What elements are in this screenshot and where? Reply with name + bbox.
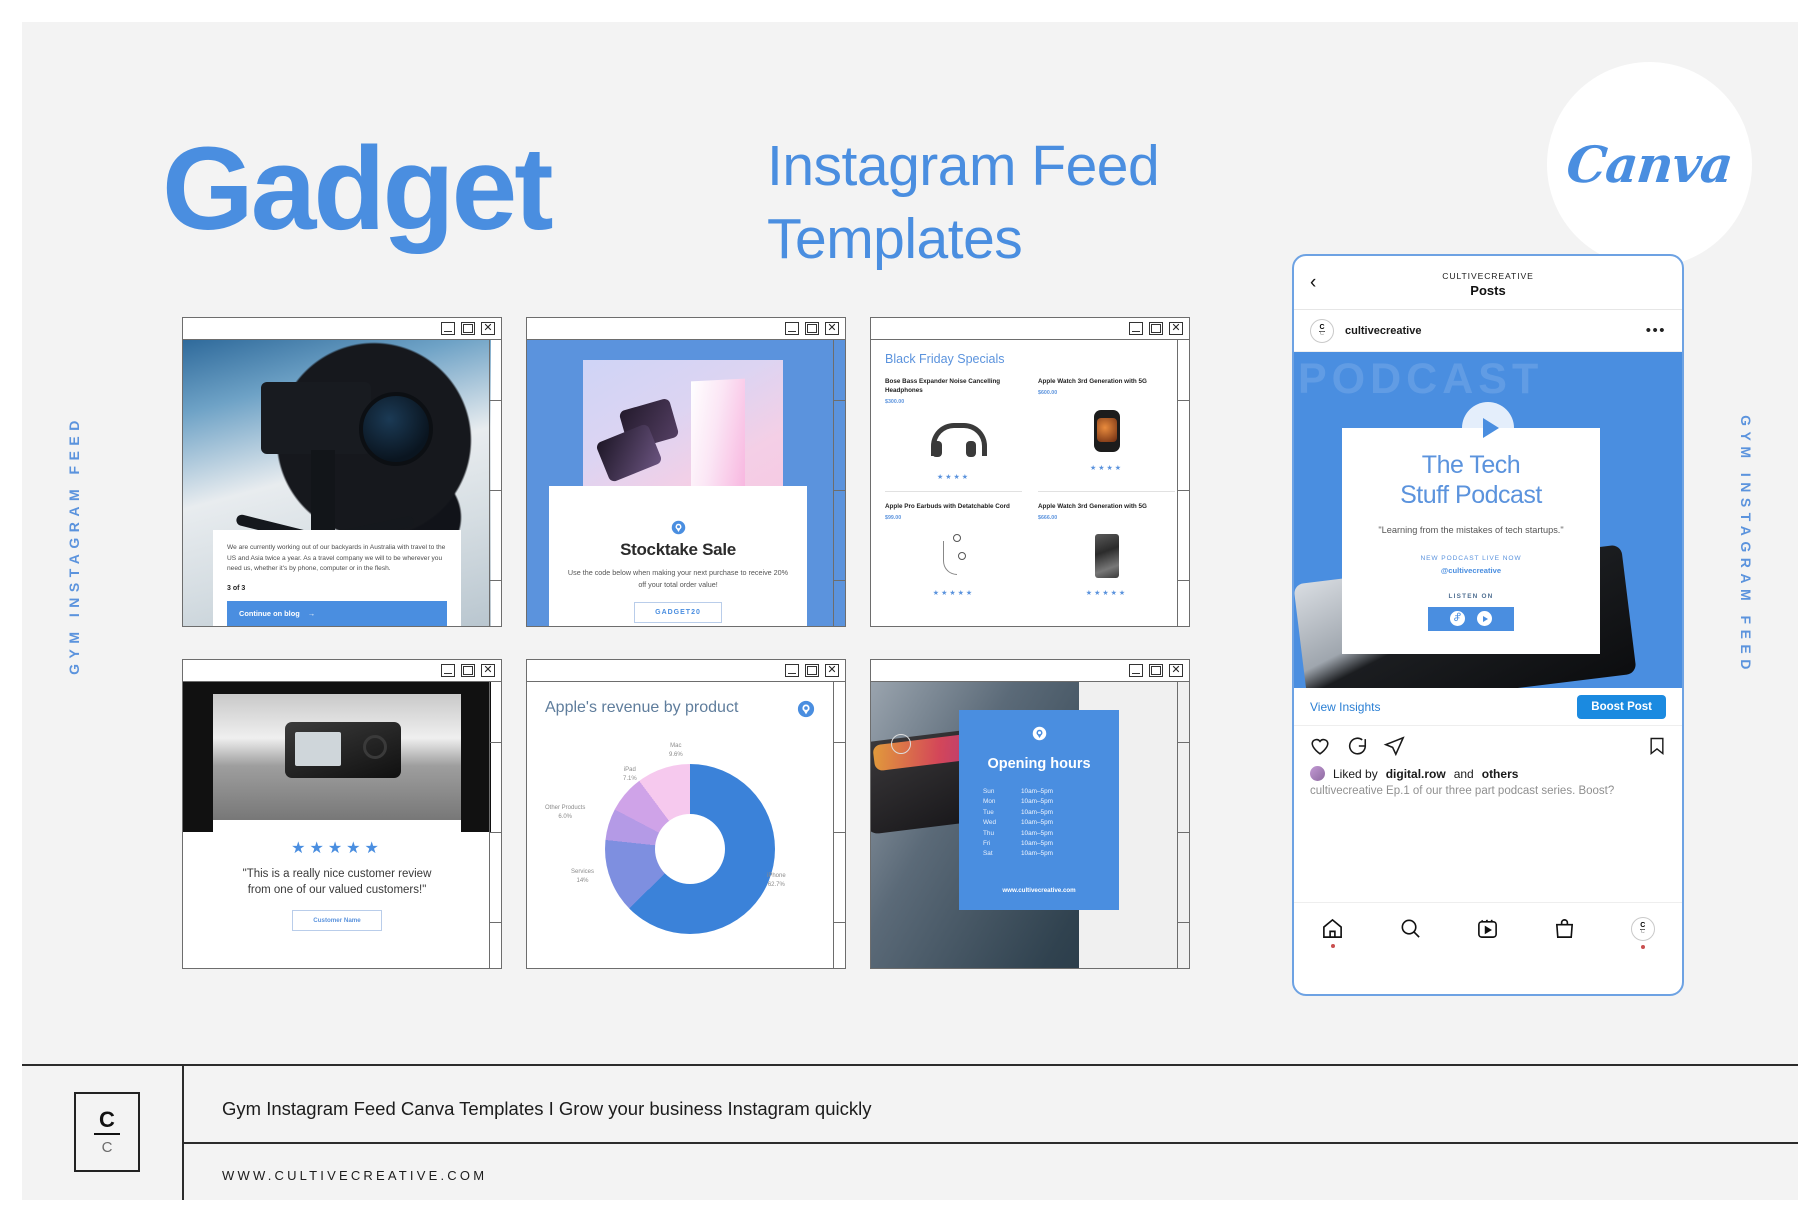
template-card-blog[interactable]: ✕ We are currently working out of our ba… — [182, 317, 502, 627]
nav-item-shop[interactable] — [1553, 917, 1576, 940]
post-media[interactable]: PODCAST The Tech Stuff Podcast "Learning… — [1294, 352, 1682, 688]
hours-row: Mon10am–5pm — [983, 798, 1095, 805]
chart-panel: Apple's revenue by product Mac 9.6% iPad… — [527, 682, 845, 968]
hours-row: Wed10am–5pm — [983, 819, 1095, 826]
sale-panel: Stocktake Sale Use the code below when m… — [549, 486, 807, 626]
liked-prefix: Liked by — [1333, 767, 1378, 781]
headphones-icon — [885, 407, 1022, 473]
minimize-icon[interactable] — [441, 664, 455, 677]
canva-logo-badge: Canva — [1547, 62, 1752, 267]
reels-icon — [1476, 917, 1499, 940]
ghost-watermark: PODCAST — [1294, 358, 1682, 402]
review-stars: ★★★★★ — [213, 838, 461, 858]
footer-rule — [182, 1142, 1798, 1144]
instagram-phone-mockup: ‹ CULTIVECREATIVE Posts C C cultivecreat… — [1292, 254, 1684, 996]
earbuds-icon — [885, 523, 1022, 589]
close-icon[interactable]: ✕ — [825, 664, 839, 677]
minimize-icon[interactable] — [785, 664, 799, 677]
product-price: $99.00 — [885, 515, 1022, 521]
subtitle-line-1: Instagram Feed — [767, 130, 1159, 203]
back-icon[interactable]: ‹ — [1310, 272, 1316, 294]
logo-letter-top: C — [94, 1109, 120, 1135]
page-subtitle: Instagram Feed Templates — [767, 130, 1159, 276]
search-icon — [1399, 917, 1422, 940]
canva-wordmark: Canva — [1564, 135, 1735, 194]
product-price: $666.00 — [1038, 515, 1175, 521]
window-titlebar: ✕ — [183, 318, 501, 340]
template-card-hours[interactable]: ✕ Opening hours Sun10am–5pm Mon10am–5pm … — [870, 659, 1190, 969]
account-handle: CULTIVECREATIVE — [1442, 271, 1534, 281]
podcast-live-label: NEW PODCAST LIVE NOW — [1342, 555, 1600, 562]
liked-user[interactable]: digital.row — [1386, 767, 1446, 781]
bookmark-icon[interactable] — [1647, 735, 1667, 757]
brand-mark-icon — [1032, 726, 1047, 741]
maximize-icon[interactable] — [461, 664, 475, 677]
product-item[interactable]: Bose Bass Expander Noise Cancelling Head… — [885, 377, 1022, 492]
blog-textbox: We are currently working out of our back… — [213, 530, 461, 626]
comment-icon[interactable] — [1346, 735, 1368, 757]
post-author-row: C C cultivecreative ••• — [1294, 310, 1682, 352]
product-item[interactable]: Apple Pro Earbuds with Detatchable Cord … — [885, 502, 1022, 603]
donut-chart — [605, 764, 775, 934]
post-caption: cultivecreative Ep.1 of our three part p… — [1294, 781, 1682, 797]
watch-icon — [1038, 398, 1175, 464]
continue-on-blog-button[interactable]: Continue on blog → — [227, 601, 447, 626]
scroll-ticks — [489, 682, 501, 968]
liked-others[interactable]: others — [1482, 767, 1519, 781]
chart-label-ipad: iPad 7.1% — [623, 766, 637, 783]
brand-mark-icon — [797, 700, 815, 718]
window-titlebar: ✕ — [871, 318, 1189, 340]
maximize-icon[interactable] — [1149, 664, 1163, 677]
scroll-ticks — [1177, 682, 1189, 968]
blog-counter: 3 of 3 — [227, 585, 447, 592]
play-icon[interactable] — [1462, 402, 1514, 454]
template-card-review[interactable]: ✕ ★★★★★ "This is a really nice customer … — [182, 659, 502, 969]
poster-canvas: Gadget Instagram Feed Templates Canva GY… — [0, 0, 1820, 1214]
hours-row: Sat10am–5pm — [983, 850, 1095, 857]
nav-item-profile[interactable]: CC — [1631, 917, 1655, 941]
heart-icon[interactable] — [1309, 735, 1331, 757]
hours-row: Thu10am–5pm — [983, 830, 1095, 837]
sale-title: Stocktake Sale — [549, 540, 807, 560]
page-title: Gadget — [162, 130, 551, 248]
product-rating: ★★★★★ — [885, 589, 1022, 597]
boost-post-button[interactable]: Boost Post — [1577, 695, 1666, 719]
product-name: Apple Watch 3rd Generation with 5G — [1038, 502, 1175, 511]
scroll-ticks — [833, 682, 845, 968]
post-icon-row — [1294, 726, 1682, 766]
instagram-header: ‹ CULTIVECREATIVE Posts — [1294, 256, 1682, 310]
spotify-icon[interactable] — [1450, 611, 1465, 626]
brand-mark-icon — [671, 520, 686, 535]
window-titlebar: ✕ — [871, 660, 1189, 682]
listen-on-label: LISTEN ON — [1342, 593, 1600, 600]
chart-label-other: Other Products 6.0% — [545, 804, 585, 821]
hours-row: Sun10am–5pm — [983, 788, 1095, 795]
close-icon[interactable]: ✕ — [481, 322, 495, 335]
phone-icon — [1038, 523, 1175, 589]
card-body: Stocktake Sale Use the code below when m… — [527, 340, 845, 626]
chart-label-services: Services 14% — [571, 868, 594, 885]
window-titlebar: ✕ — [527, 318, 845, 340]
podcast-handle: @cultivecreative — [1342, 566, 1600, 575]
sunglasses-photo — [583, 360, 783, 506]
brand-logo: C C — [74, 1092, 140, 1172]
author-name[interactable]: cultivecreative — [1345, 325, 1646, 337]
card-body: Opening hours Sun10am–5pm Mon10am–5pm Tu… — [871, 682, 1189, 968]
nav-item-reels[interactable] — [1476, 917, 1499, 940]
hours-row: Fri10am–5pm — [983, 840, 1095, 847]
blackfriday-title: Black Friday Specials — [885, 352, 1175, 366]
product-rating: ★★★★ — [885, 473, 1022, 481]
home-icon — [1321, 917, 1344, 940]
product-name: Apple Watch 3rd Generation with 5G — [1038, 377, 1175, 386]
liker-avatar — [1310, 766, 1325, 781]
scroll-ticks — [833, 340, 845, 626]
card-body: ★★★★★ "This is a really nice customer re… — [183, 682, 501, 968]
chart-title: Apple's revenue by product — [545, 698, 827, 717]
hours-website: www.cultivecreative.com — [959, 887, 1119, 894]
blog-paragraph: We are currently working out of our back… — [227, 543, 447, 575]
footer-url: WWW.CULTIVECREATIVE.COM — [222, 1168, 487, 1183]
side-label-left: GYM INSTAGRAM FEED — [66, 415, 82, 675]
product-name: Apple Pro Earbuds with Detatchable Cord — [885, 502, 1022, 511]
nav-item-home[interactable] — [1321, 917, 1344, 940]
maximize-icon[interactable] — [461, 322, 475, 335]
podcast-card: The Tech Stuff Podcast "Learning from th… — [1342, 428, 1600, 654]
subtitle-line-2: Templates — [767, 203, 1159, 276]
blackfriday-panel: Black Friday Specials Bose Bass Expander… — [871, 340, 1189, 626]
maximize-icon[interactable] — [805, 322, 819, 335]
camera-snow-photo — [183, 682, 491, 832]
blog-cta-label: Continue on blog — [239, 609, 300, 618]
maximize-icon[interactable] — [805, 664, 819, 677]
hours-list: Sun10am–5pm Mon10am–5pm Tue10am–5pm Wed1… — [983, 788, 1095, 857]
template-card-sale[interactable]: ✕ Stocktake Sale Use the code below when… — [526, 317, 846, 627]
sale-body: Use the code below when making your next… — [567, 567, 789, 591]
avatar[interactable]: C C — [1310, 319, 1334, 343]
review-panel: ★★★★★ "This is a really nice customer re… — [213, 820, 461, 968]
card-body: Black Friday Specials Bose Bass Expander… — [871, 340, 1189, 626]
nav-item-search[interactable] — [1399, 917, 1422, 940]
promo-code-button[interactable]: GADGET20 — [634, 602, 722, 623]
close-icon[interactable]: ✕ — [825, 322, 839, 335]
close-icon[interactable]: ✕ — [1169, 322, 1183, 335]
share-icon[interactable] — [1383, 735, 1405, 757]
product-rating: ★★★★ — [1038, 464, 1175, 472]
podcast-title: The Tech Stuff Podcast — [1342, 450, 1600, 510]
product-grid: Bose Bass Expander Noise Cancelling Head… — [885, 377, 1175, 603]
arrow-right-icon: → — [308, 609, 315, 618]
listen-buttons[interactable] — [1428, 607, 1514, 631]
product-price: $300.00 — [885, 399, 1022, 405]
minimize-icon[interactable] — [441, 322, 455, 335]
profile-icon: CC — [1631, 917, 1655, 941]
card-body: We are currently working out of our back… — [183, 340, 501, 626]
product-item[interactable]: Apple Watch 3rd Generation with 5G $600.… — [1038, 377, 1175, 492]
minimize-icon[interactable] — [1129, 322, 1143, 335]
opening-hours-title: Opening hours — [959, 756, 1119, 772]
liked-suffix: and — [1454, 767, 1474, 781]
logo-letter-bottom: C — [102, 1139, 113, 1156]
close-icon[interactable]: ✕ — [1169, 664, 1183, 677]
view-insights-link[interactable]: View Insights — [1310, 700, 1380, 714]
podcast-quote: "Learning from the mistakes of tech star… — [1342, 523, 1600, 538]
scroll-ticks — [489, 340, 501, 626]
product-item[interactable]: Apple Watch 3rd Generation with 5G $666.… — [1038, 502, 1175, 603]
minimize-icon[interactable] — [785, 322, 799, 335]
card-body: Apple's revenue by product Mac 9.6% iPad… — [527, 682, 845, 968]
product-price: $600.00 — [1038, 390, 1175, 396]
customer-name-button[interactable]: Customer Name — [292, 910, 381, 931]
opening-hours-panel: Opening hours Sun10am–5pm Mon10am–5pm Tu… — [959, 710, 1119, 910]
review-quote: "This is a really nice customer review f… — [213, 867, 461, 898]
template-card-blackfriday[interactable]: ✕ Black Friday Specials Bose Bass Expand… — [870, 317, 1190, 627]
shop-icon — [1553, 917, 1576, 940]
scroll-ticks — [1177, 340, 1189, 626]
maximize-icon[interactable] — [1149, 322, 1163, 335]
screen-title: Posts — [1470, 283, 1505, 298]
template-card-chart[interactable]: ✕ Apple's revenue by product Mac 9.6% iP… — [526, 659, 846, 969]
product-name: Bose Bass Expander Noise Cancelling Head… — [885, 377, 1022, 395]
bottom-nav: CC — [1294, 902, 1682, 954]
liked-by-row: Liked by digital.row and others — [1294, 766, 1682, 781]
post-actions-bar: View Insights Boost Post — [1294, 688, 1682, 726]
footer: C C Gym Instagram Feed Canva Templates I… — [22, 1064, 1798, 1200]
window-titlebar: ✕ — [183, 660, 501, 682]
hours-row: Tue10am–5pm — [983, 809, 1095, 816]
window-titlebar: ✕ — [527, 660, 845, 682]
play-circle-icon[interactable] — [1477, 611, 1492, 626]
chart-label-mac: Mac 9.6% — [669, 742, 683, 759]
side-label-right: GYM INSTAGRAM FEED — [1738, 415, 1754, 675]
footer-divider — [182, 1066, 184, 1200]
close-icon[interactable]: ✕ — [481, 664, 495, 677]
footer-title: Gym Instagram Feed Canva Templates I Gro… — [222, 1098, 871, 1120]
minimize-icon[interactable] — [1129, 664, 1143, 677]
chart-label-iphone: iPhone 62.7% — [767, 872, 786, 889]
product-rating: ★★★★★ — [1038, 589, 1175, 597]
poster-background: Gadget Instagram Feed Templates Canva GY… — [22, 22, 1798, 1192]
